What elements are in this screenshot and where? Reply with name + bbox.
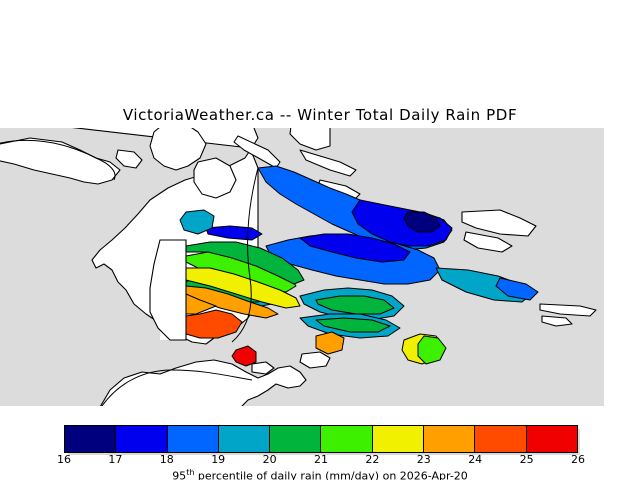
colorbar-tick-18: 18 [160, 453, 174, 466]
colorbar-band-19-20 [219, 426, 270, 452]
colorbar-caption: 95th percentile of daily rain (mm/day) o… [0, 468, 640, 480]
colorbar-tick-26: 26 [571, 453, 585, 466]
map-svg [0, 128, 604, 406]
caption-prefix: 95 [172, 470, 186, 480]
colorbar-legend: 16 17 18 19 20 21 22 23 24 25 26 95th pe… [0, 424, 640, 480]
colorbar-band-24-25 [475, 426, 526, 452]
colorbar-band-21-22 [321, 426, 372, 452]
colorbar-tick-22: 22 [365, 453, 379, 466]
colorbar-tick-20: 20 [263, 453, 277, 466]
colorbar-tick-16: 16 [57, 453, 71, 466]
weather-map-figure: VictoriaWeather.ca -- Winter Total Daily… [0, 0, 640, 480]
colorbar-tick-19: 19 [211, 453, 225, 466]
colorbar-tick-24: 24 [468, 453, 482, 466]
colorbar-tick-labels: 16 17 18 19 20 21 22 23 24 25 26 [64, 453, 578, 469]
figure-title: VictoriaWeather.ca -- Winter Total Daily… [0, 106, 640, 124]
colorbar-tick-21: 21 [314, 453, 328, 466]
colorbar-band-25-26 [527, 426, 577, 452]
colorbar-tick-23: 23 [417, 453, 431, 466]
colorbar-gradient [64, 425, 578, 453]
colorbar-band-18-19 [168, 426, 219, 452]
colorbar-band-16-17 [65, 426, 116, 452]
colorbar-tick-25: 25 [520, 453, 534, 466]
colorbar-band-17-18 [116, 426, 167, 452]
caption-rest: percentile of daily rain (mm/day) on 202… [194, 470, 467, 480]
map-panel [0, 128, 604, 406]
colorbar-tick-17: 17 [108, 453, 122, 466]
colorbar-band-22-23 [373, 426, 424, 452]
colorbar-band-20-21 [270, 426, 321, 452]
colorbar-band-23-24 [424, 426, 475, 452]
